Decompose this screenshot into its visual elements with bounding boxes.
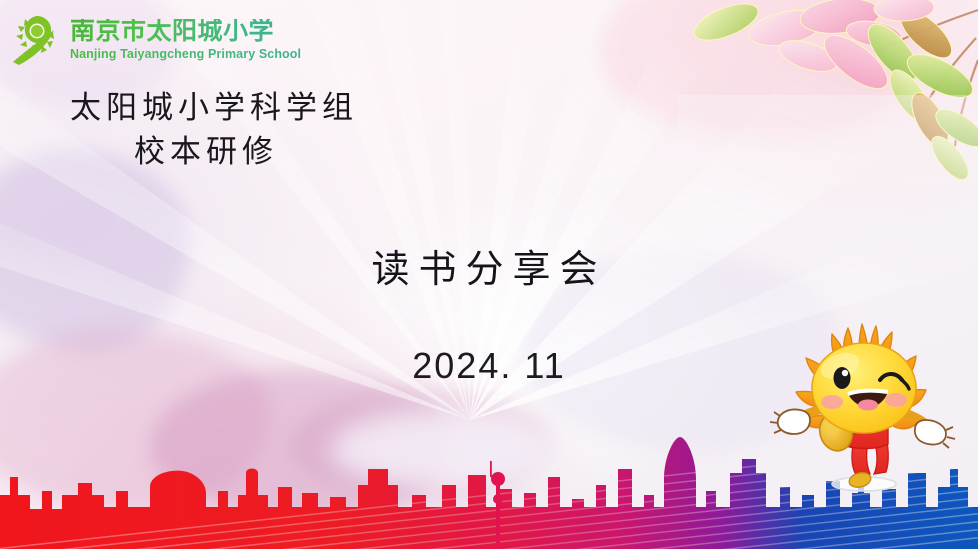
subtitle-block: 太阳城小学科学组 校本研修 [70, 86, 358, 174]
school-name-cn: 南京市太阳城小学 [70, 19, 301, 44]
presentation-slide: 南京市太阳城小学 Nanjing Taiyangcheng Primary Sc… [0, 0, 978, 549]
watercolor-blotch [600, 0, 920, 140]
sun-sprout-logo-icon [8, 10, 64, 68]
subtitle-line-2: 校本研修 [70, 130, 358, 174]
autumn-leaves-branch-icon [678, 0, 978, 185]
page-title: 读书分享会 [0, 238, 978, 293]
subtitle-line-1: 太阳城小学科学组 [70, 86, 358, 130]
school-logo: 南京市太阳城小学 Nanjing Taiyangcheng Primary Sc… [8, 10, 301, 68]
school-name-en: Nanjing Taiyangcheng Primary School [70, 48, 301, 61]
sun-mascot-character [762, 316, 962, 501]
